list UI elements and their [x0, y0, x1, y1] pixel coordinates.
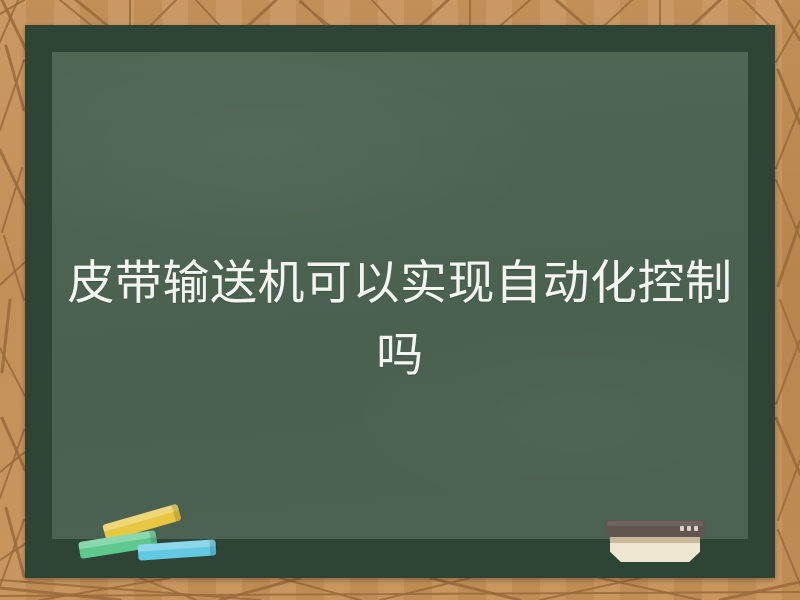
eraser-dot	[687, 526, 691, 531]
chalkboard-surface: 皮带输送机可以实现自动化控制吗	[52, 52, 748, 539]
chalkboard-eraser[interactable]	[605, 520, 705, 562]
chalk-sticks-group	[83, 511, 213, 571]
eraser-dot	[680, 526, 684, 531]
eraser-dot	[694, 526, 698, 531]
eraser-handle	[605, 520, 705, 537]
chalk-end-cap	[209, 539, 217, 555]
chalkboard: 皮带输送机可以实现自动化控制吗	[25, 25, 775, 578]
chalkboard-headline: 皮带输送机可以实现自动化控制吗	[52, 248, 748, 392]
chalkboard-scene: 皮带输送机可以实现自动化控制吗	[0, 0, 800, 600]
